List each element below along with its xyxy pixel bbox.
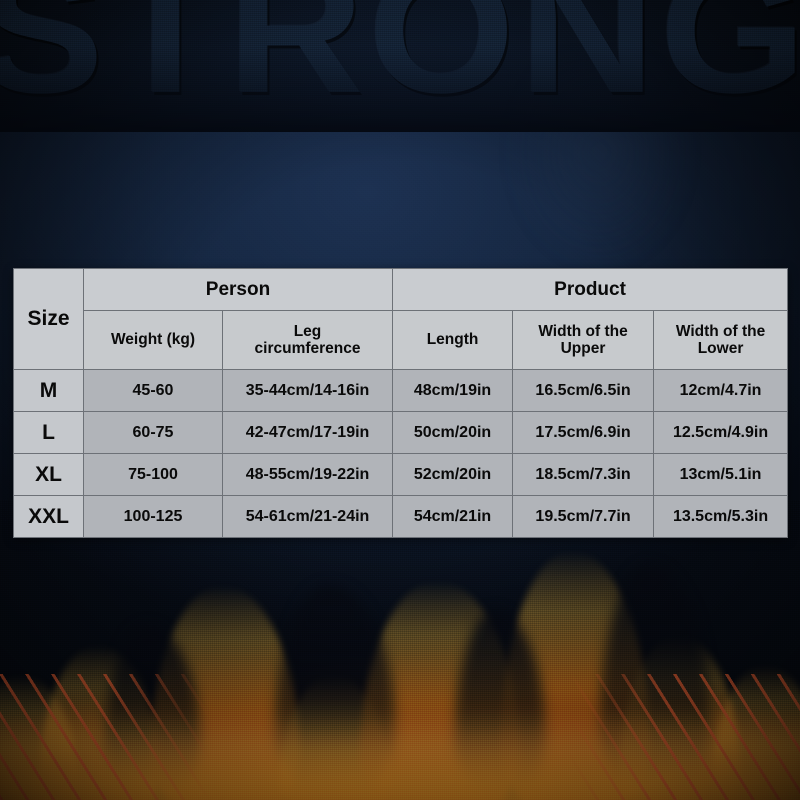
header-leg-circumference: Leg circumference <box>223 311 393 370</box>
table-sub-header-row: Weight (kg) Leg circumference Length Wid… <box>14 311 788 370</box>
cell-width-lower: 12cm/4.7in <box>654 370 788 412</box>
cell-width-lower: 12.5cm/4.9in <box>654 412 788 454</box>
cell-size: M <box>14 370 84 412</box>
table-body: M 45-60 35-44cm/14-16in 48cm/19in 16.5cm… <box>14 370 788 538</box>
header-width-lower: Width of the Lower <box>654 311 788 370</box>
cell-size: XXL <box>14 496 84 538</box>
header-width-lower-line2: Lower <box>657 340 784 357</box>
header-weight: Weight (kg) <box>84 311 223 370</box>
table-row: M 45-60 35-44cm/14-16in 48cm/19in 16.5cm… <box>14 370 788 412</box>
cell-width-lower: 13.5cm/5.3in <box>654 496 788 538</box>
header-group-person: Person <box>84 269 393 311</box>
cell-length: 54cm/21in <box>393 496 513 538</box>
cell-weight: 60-75 <box>84 412 223 454</box>
cell-width-upper: 16.5cm/6.5in <box>513 370 654 412</box>
headline-banner: STRONGER <box>0 0 800 132</box>
cell-weight: 100-125 <box>84 496 223 538</box>
cell-leg: 42-47cm/17-19in <box>223 412 393 454</box>
cell-length: 52cm/20in <box>393 454 513 496</box>
table-row: XXL 100-125 54-61cm/21-24in 54cm/21in 19… <box>14 496 788 538</box>
cell-length: 50cm/20in <box>393 412 513 454</box>
table-row: L 60-75 42-47cm/17-19in 50cm/20in 17.5cm… <box>14 412 788 454</box>
header-width-upper-line1: Width of the <box>516 323 650 340</box>
cell-leg: 35-44cm/14-16in <box>223 370 393 412</box>
header-group-product: Product <box>393 269 788 311</box>
cell-width-lower: 13cm/5.1in <box>654 454 788 496</box>
headline-text: STRONGER <box>0 0 800 120</box>
header-width-lower-line1: Width of the <box>657 323 784 340</box>
cell-size: L <box>14 412 84 454</box>
cell-length: 48cm/19in <box>393 370 513 412</box>
cell-size: XL <box>14 454 84 496</box>
cell-width-upper: 18.5cm/7.3in <box>513 454 654 496</box>
header-width-upper-line2: Upper <box>516 340 650 357</box>
header-size: Size <box>14 269 84 370</box>
size-chart-table-container: Size Person Product Weight (kg) Leg circ… <box>13 268 787 538</box>
cell-leg: 54-61cm/21-24in <box>223 496 393 538</box>
table-header: Size Person Product Weight (kg) Leg circ… <box>14 269 788 370</box>
product-size-chart-poster: STRONGER Size <box>0 0 800 800</box>
header-length: Length <box>393 311 513 370</box>
cell-weight: 45-60 <box>84 370 223 412</box>
cell-width-upper: 17.5cm/6.9in <box>513 412 654 454</box>
cell-leg: 48-55cm/19-22in <box>223 454 393 496</box>
table-row: XL 75-100 48-55cm/19-22in 52cm/20in 18.5… <box>14 454 788 496</box>
header-width-upper: Width of the Upper <box>513 311 654 370</box>
cell-weight: 75-100 <box>84 454 223 496</box>
size-chart-table: Size Person Product Weight (kg) Leg circ… <box>13 268 788 538</box>
header-leg-line2: circumference <box>226 340 389 357</box>
table-group-header-row: Size Person Product <box>14 269 788 311</box>
header-leg-line1: Leg <box>226 323 389 340</box>
cell-width-upper: 19.5cm/7.7in <box>513 496 654 538</box>
